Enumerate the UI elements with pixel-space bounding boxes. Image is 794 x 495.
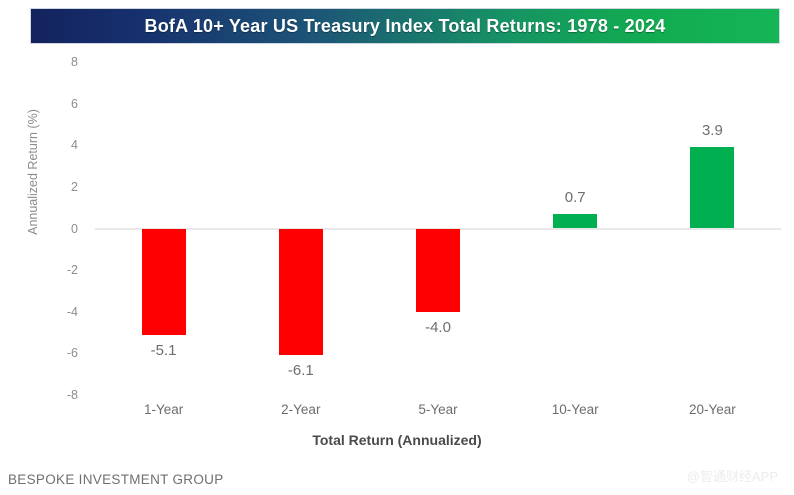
y-axis-tick-label: 0 — [71, 222, 78, 236]
y-axis-tick-label: 8 — [71, 55, 78, 69]
y-axis-tick-label: 4 — [71, 138, 78, 152]
bar-value-label: 0.7 — [565, 189, 586, 206]
source-note: BESPOKE INVESTMENT GROUP — [8, 472, 224, 487]
chart-figure: BofA 10+ Year US Treasury Index Total Re… — [0, 0, 794, 495]
bar-2-year — [279, 229, 323, 356]
bar-value-label: 3.9 — [702, 122, 723, 139]
y-axis-tick-label: 6 — [71, 97, 78, 111]
x-axis-tick-label: 2-Year — [281, 402, 320, 417]
bar-value-label: -6.1 — [288, 362, 314, 379]
bar-1-year — [142, 229, 186, 335]
y-axis-tick-label: -6 — [67, 346, 78, 360]
x-axis-tick-label: 10-Year — [552, 402, 599, 417]
y-axis-tick-group: 86420-2-4-6-8 — [0, 62, 90, 395]
y-axis-tick-label: 2 — [71, 180, 78, 194]
x-axis-tick-label: 20-Year — [689, 402, 736, 417]
chart-title-banner: BofA 10+ Year US Treasury Index Total Re… — [30, 8, 780, 44]
chart-title: BofA 10+ Year US Treasury Index Total Re… — [145, 16, 666, 37]
bar-value-label: -4.0 — [425, 319, 451, 336]
bar-value-label: -5.1 — [151, 342, 177, 359]
plot-area — [95, 62, 781, 395]
x-axis-tick-label: 5-Year — [418, 402, 457, 417]
bar-10-year — [553, 214, 597, 229]
x-axis-title: Total Return (Annualized) — [0, 432, 794, 448]
y-axis-tick-label: -2 — [67, 263, 78, 277]
x-axis-tick-label: 1-Year — [144, 402, 183, 417]
bar-5-year — [416, 229, 460, 312]
watermark-label: @智通财经APP — [687, 466, 778, 485]
y-axis-tick-label: -8 — [67, 388, 78, 402]
bar-20-year — [690, 147, 734, 228]
y-axis-tick-label: -4 — [67, 305, 78, 319]
